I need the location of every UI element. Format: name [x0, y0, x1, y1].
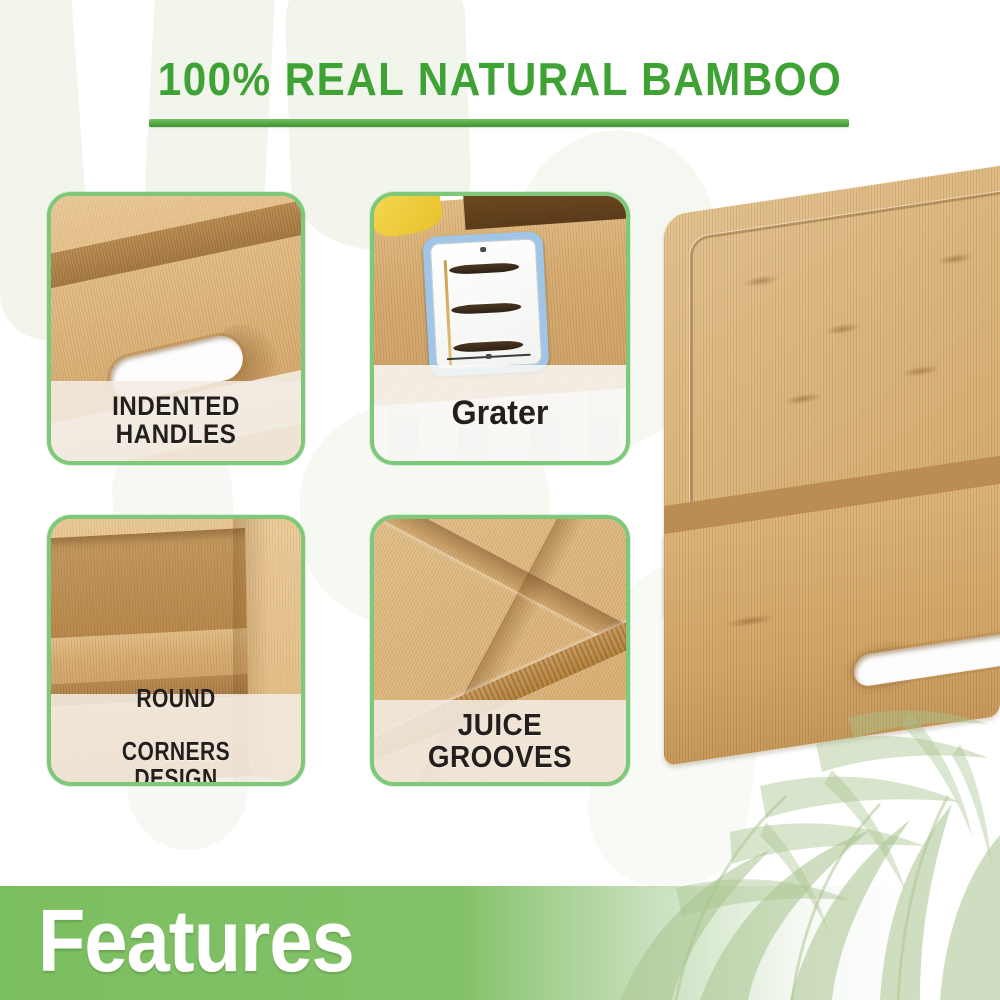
grater-rivet [480, 247, 486, 252]
feature-label-text: ROUND CORNERS DESIGN [69, 685, 283, 786]
feature-label-text: JUICE GROOVES [392, 709, 608, 772]
feature-card-round-corners-design[interactable]: ROUND CORNERS DESIGN [47, 515, 305, 786]
board-side-face [664, 484, 1000, 766]
feature-label-line-1: ROUND [80, 685, 273, 712]
grater-insert [422, 231, 549, 377]
feature-label-bar: JUICE GROOVES [374, 700, 626, 782]
infographic-canvas: 100% REAL NATURAL BAMBOO INDENTED HANDLE… [0, 0, 1000, 1000]
grater-rivet [486, 354, 492, 359]
feature-label-line-2: CORNERS DESIGN [80, 738, 273, 786]
headline-container: 100% REAL NATURAL BAMBOO [0, 52, 1000, 106]
product-photo[interactable] [664, 216, 1000, 786]
grater-gold-edge [444, 260, 453, 366]
feature-label-bar: ROUND CORNERS DESIGN [51, 694, 301, 782]
grater-blade-slot [451, 302, 522, 315]
feature-label-text: INDENTED HANDLES [69, 393, 283, 448]
feature-card-indented-handles[interactable]: INDENTED HANDLES [47, 192, 305, 465]
feature-label-bar: INDENTED HANDLES [51, 381, 301, 461]
feature-label-text: Grater [452, 396, 549, 431]
banner-title: Features [38, 895, 354, 987]
page-title: 100% REAL NATURAL BAMBOO [40, 52, 960, 106]
grater-plate [430, 238, 542, 369]
feature-label-bar: Grater [374, 365, 626, 461]
feature-card-grater[interactable]: Grater [370, 192, 630, 465]
feature-card-juice-grooves[interactable]: JUICE GROOVES [370, 515, 630, 786]
grater-blade-slot [449, 262, 520, 275]
headline-divider [149, 119, 849, 127]
grater-blade-slot [453, 340, 524, 353]
